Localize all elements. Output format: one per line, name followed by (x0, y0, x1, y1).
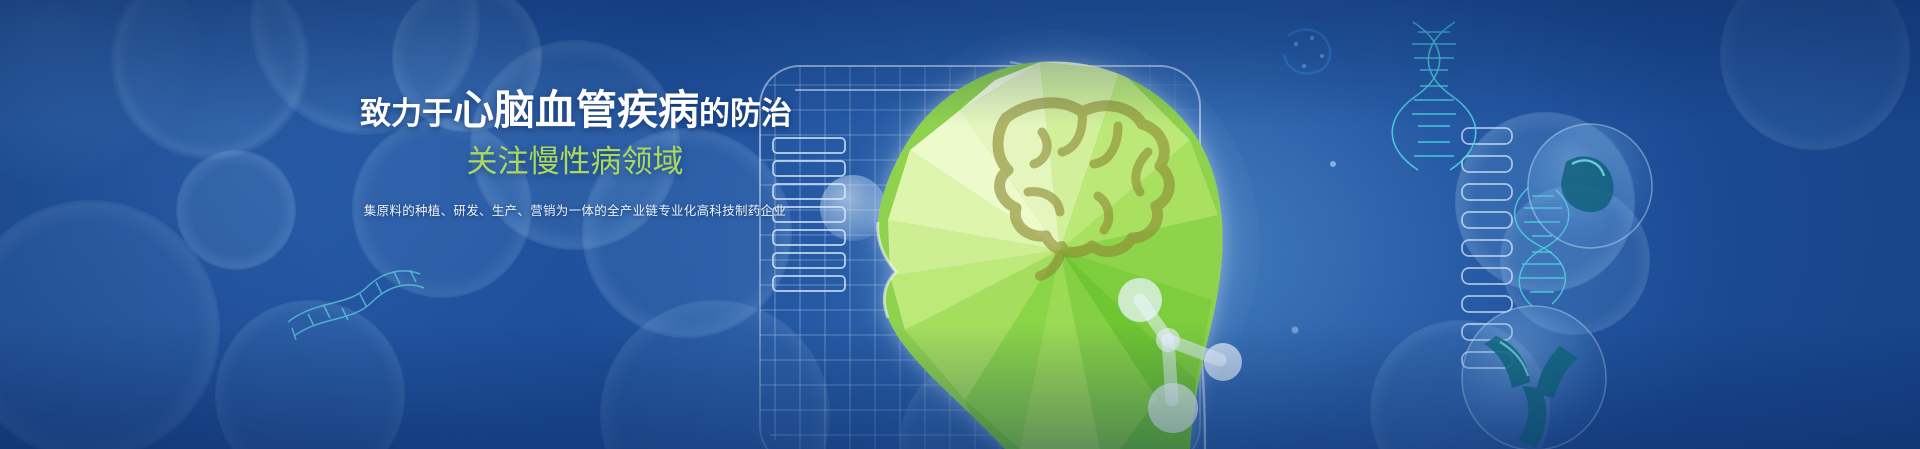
headline-emphasis: 心脑血管疾病 (453, 87, 699, 133)
hero-banner: 致力于心脑血管疾病的防治 关注慢性病领域 集原料的种植、研发、生产、营销为一体的… (0, 0, 1920, 449)
page-title: 致力于心脑血管疾病的防治 (360, 88, 790, 136)
hero-text-block: 致力于心脑血管疾病的防治 关注慢性病领域 集原料的种植、研发、生产、营销为一体的… (360, 88, 790, 220)
page-subtitle: 关注慢性病领域 (360, 144, 790, 180)
headline-suffix: 的防治 (699, 96, 792, 131)
headline-prefix: 致力于 (360, 96, 453, 131)
page-tagline: 集原料的种植、研发、生产、营销为一体的全产业链专业化高科技制药企业 (360, 202, 790, 220)
background-edge-shade (0, 0, 1920, 449)
